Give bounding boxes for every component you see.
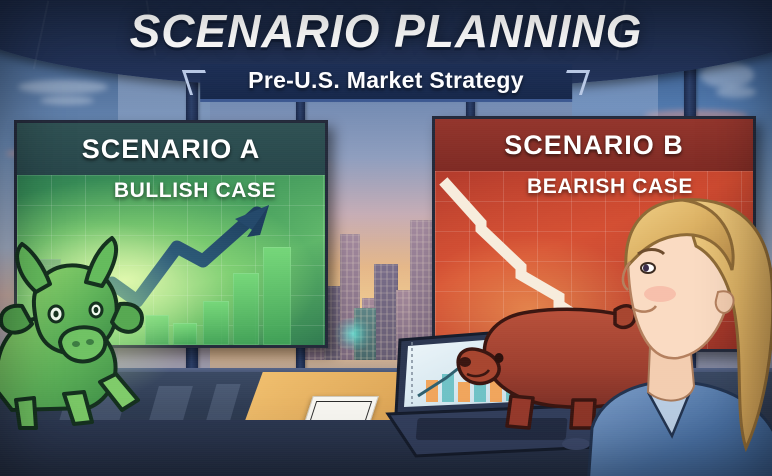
bull-mascot bbox=[0, 232, 192, 432]
cloud-shape bbox=[18, 80, 108, 94]
scenario-b-header-text: SCENARIO B bbox=[504, 130, 684, 161]
city-light-glow bbox=[330, 318, 376, 350]
scenario-a-sub-label: BULLISH CASE bbox=[17, 179, 325, 203]
poster-scene: SCENARIO PLANNING Pre-U.S. Market Strate… bbox=[0, 0, 772, 476]
poster-subtitle-banner: Pre-U.S. Market Strategy bbox=[200, 64, 572, 102]
scenario-b-header: SCENARIO B bbox=[435, 119, 753, 173]
analyst-person bbox=[586, 196, 772, 476]
cloud-shape bbox=[716, 86, 756, 98]
scenario-a-header: SCENARIO A bbox=[17, 123, 325, 177]
cloud-shape bbox=[40, 96, 94, 105]
poster-title-block: SCENARIO PLANNING bbox=[0, 8, 772, 54]
cheek-blush bbox=[644, 286, 676, 302]
poster-subtitle: Pre-U.S. Market Strategy bbox=[248, 67, 524, 94]
scenario-a-header-text: SCENARIO A bbox=[82, 134, 261, 165]
ear bbox=[716, 291, 734, 313]
poster-title: SCENARIO PLANNING bbox=[0, 8, 772, 54]
